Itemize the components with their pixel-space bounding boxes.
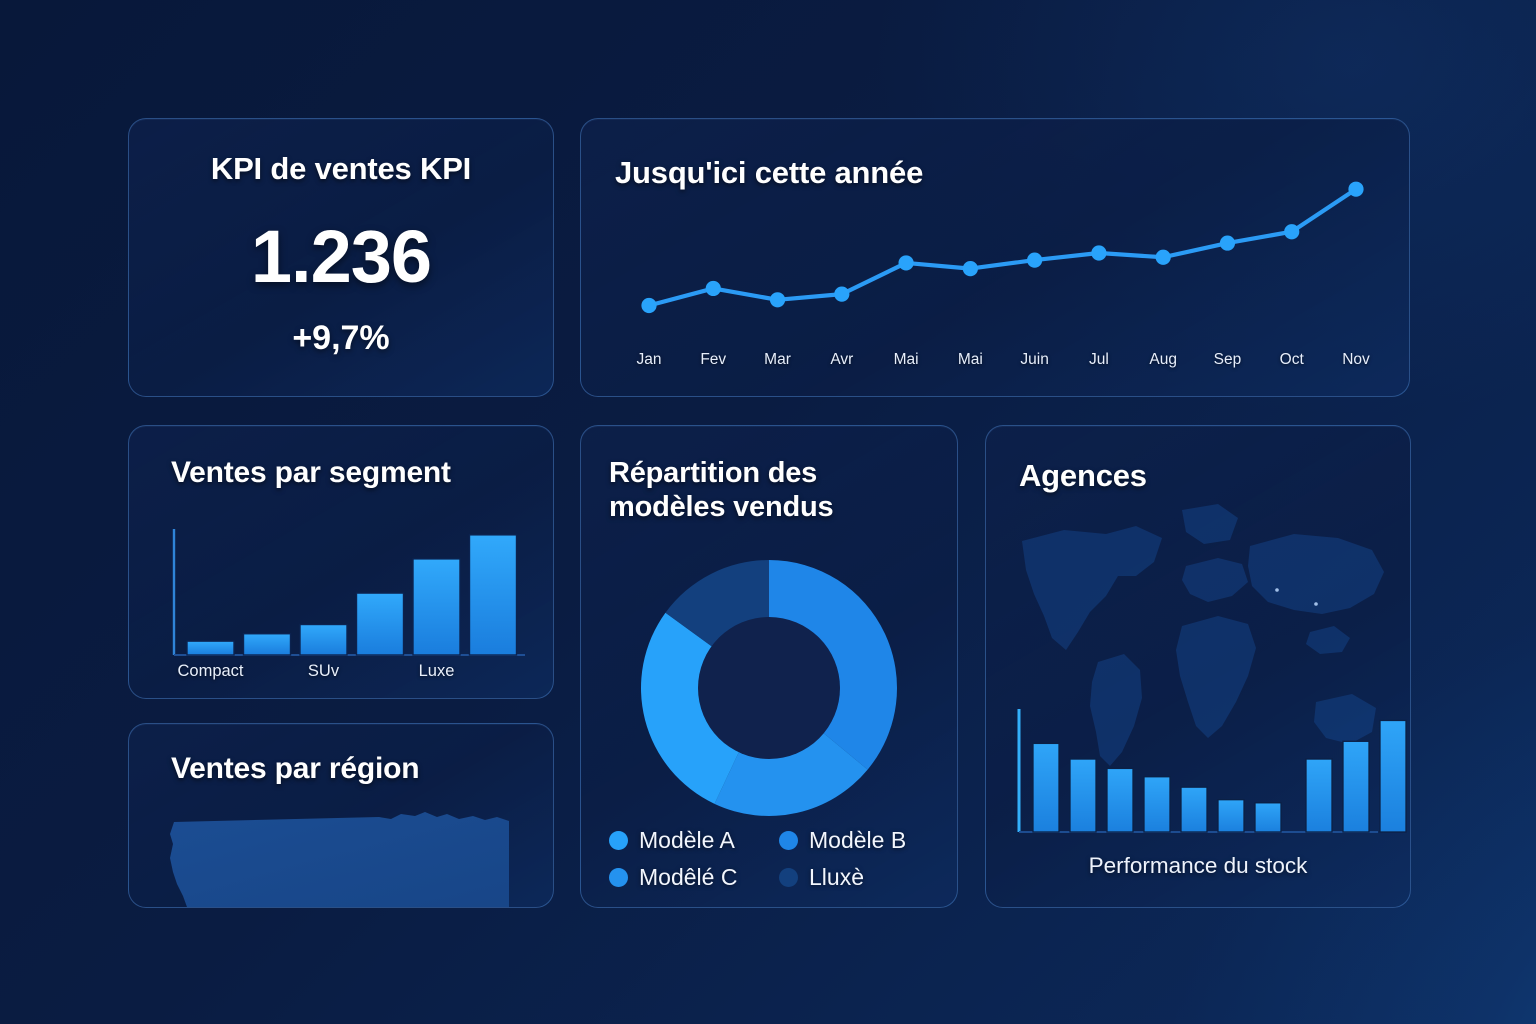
legend-label: Modèle A [639, 827, 735, 854]
donut-legend-item[interactable]: Modèle A [609, 827, 779, 854]
line-chart-point[interactable] [1027, 252, 1042, 267]
line-chart-x-label: Fev [683, 351, 743, 369]
line-chart-point[interactable] [1156, 250, 1171, 265]
dashboard: KPI de ventes KPI 1.236 +9,7% Jusqu'ici … [0, 0, 1536, 1024]
stock-performance-caption: Performance du stock [986, 853, 1410, 879]
stock-bar[interactable] [1380, 720, 1406, 832]
stock-bar[interactable] [1107, 768, 1133, 832]
donut-legend-row: Modêlé CLluxè [609, 859, 939, 896]
segment-x-label: Luxe [391, 662, 483, 681]
segment-bar[interactable] [187, 641, 234, 655]
legend-color-dot-icon [779, 868, 798, 887]
donut-legend-item[interactable]: Modêlé C [609, 864, 779, 891]
line-chart-x-label: Mar [748, 351, 808, 369]
line-chart-x-label: Sep [1197, 351, 1257, 369]
sales-by-segment-card[interactable]: Ventes par segment CompactSUvLuxe [128, 425, 554, 699]
line-chart-point[interactable] [834, 287, 849, 302]
line-chart-x-label: Juin [1005, 351, 1065, 369]
line-chart-point[interactable] [898, 255, 913, 270]
segment-bar[interactable] [300, 625, 347, 655]
donut-chart-legend: Modèle AModèle BModêlé CLluxè [609, 822, 939, 896]
line-chart-x-label: Mai [876, 351, 936, 369]
region-map-shape [129, 724, 553, 907]
line-chart-point[interactable] [1220, 235, 1235, 250]
donut-legend-item[interactable]: Modèle B [779, 827, 906, 854]
donut-chart-title: Répartition des modèles vendus [609, 456, 929, 524]
models-distribution-card[interactable]: Répartition des modèles vendus Modèle AM… [580, 425, 958, 908]
segment-bar[interactable] [244, 634, 291, 655]
legend-color-dot-icon [609, 868, 628, 887]
kpi-card[interactable]: KPI de ventes KPI 1.236 +9,7% [128, 118, 554, 397]
sales-by-region-card[interactable]: Ventes par région [128, 723, 554, 908]
stock-bar[interactable] [1070, 759, 1096, 832]
stock-bar[interactable] [1255, 803, 1281, 832]
line-chart-x-label: Jan [619, 351, 679, 369]
line-chart-point[interactable] [1284, 224, 1299, 239]
line-chart-point[interactable] [1091, 245, 1106, 260]
line-chart-point[interactable] [706, 281, 721, 296]
segment-x-label: SUv [278, 662, 370, 681]
line-chart-point[interactable] [641, 298, 656, 313]
line-chart-x-label: Nov [1326, 351, 1386, 369]
stock-performance-bar-chart [986, 426, 1410, 907]
stock-bar[interactable] [1181, 787, 1207, 832]
year-to-date-line-chart-card[interactable]: Jusqu'ici cette année JanFevMarAvrMaiMai… [580, 118, 1410, 397]
segment-bar[interactable] [413, 559, 460, 655]
line-chart-point[interactable] [963, 261, 978, 276]
line-chart-point[interactable] [1348, 182, 1363, 197]
segment-bar-chart-plot [129, 426, 553, 698]
stock-bar[interactable] [1033, 743, 1059, 832]
stock-bar[interactable] [1343, 741, 1369, 832]
segment-bar[interactable] [357, 593, 404, 655]
line-chart-point[interactable] [770, 292, 785, 307]
stock-bar[interactable] [1144, 777, 1170, 832]
kpi-delta-badge: +9,7% [129, 319, 553, 358]
donut-legend-item[interactable]: Lluxè [779, 864, 864, 891]
legend-color-dot-icon [779, 831, 798, 850]
stock-bar[interactable] [1306, 759, 1332, 832]
legend-label: Lluxè [809, 864, 864, 891]
line-chart-x-label: Mai [940, 351, 1000, 369]
stock-bar[interactable] [1218, 800, 1244, 832]
line-chart-x-label: Avr [812, 351, 872, 369]
segment-bar[interactable] [470, 535, 517, 655]
donut-legend-row: Modèle AModèle B [609, 822, 939, 859]
line-chart-x-label: Aug [1133, 351, 1193, 369]
legend-color-dot-icon [609, 831, 628, 850]
line-chart-x-label: Oct [1262, 351, 1322, 369]
kpi-value: 1.236 [129, 214, 553, 299]
line-chart-x-label: Jul [1069, 351, 1129, 369]
legend-label: Modèle B [809, 827, 906, 854]
agencies-card[interactable]: Agences Performance du stock [985, 425, 1411, 908]
kpi-card-title: KPI de ventes KPI [129, 151, 553, 187]
donut-chart-plot [639, 558, 899, 818]
legend-label: Modêlé C [639, 864, 737, 891]
segment-x-label: Compact [165, 662, 257, 681]
